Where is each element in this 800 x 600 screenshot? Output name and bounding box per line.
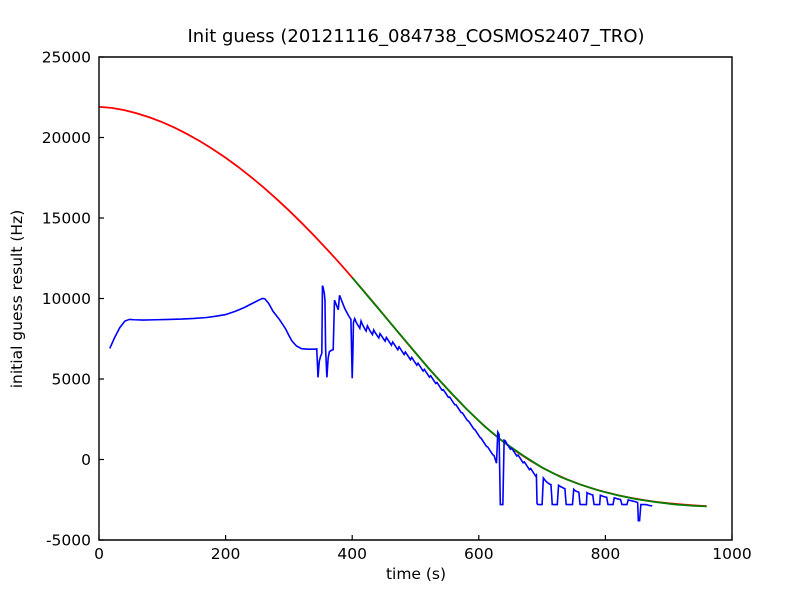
x-tick-label: 400: [337, 545, 367, 563]
y-tick-label: 5000: [52, 371, 91, 389]
x-tick-label: 800: [591, 545, 621, 563]
y-tick-label: 15000: [42, 210, 91, 228]
page-title: Init guess (20121116_084738_COSMOS2407_T…: [187, 26, 644, 47]
plot-background: [99, 57, 732, 540]
y-tick-label: -5000: [46, 532, 91, 550]
y-tick-label: 0: [81, 451, 91, 469]
y-tick-label: 10000: [42, 290, 91, 308]
x-axis-label: time (s): [386, 565, 446, 583]
figure-canvas: 02004006008001000-5000050001000015000200…: [0, 0, 800, 600]
y-tick-label: 25000: [42, 49, 91, 67]
x-tick-label: 600: [464, 545, 494, 563]
y-axis-label: initial guess result (Hz): [8, 210, 26, 389]
x-tick-label: 200: [211, 545, 241, 563]
y-tick-label: 20000: [42, 129, 91, 147]
x-tick-label: 1000: [712, 545, 751, 563]
x-tick-label: 0: [94, 545, 104, 563]
chart-plot: 02004006008001000-5000050001000015000200…: [0, 0, 800, 600]
